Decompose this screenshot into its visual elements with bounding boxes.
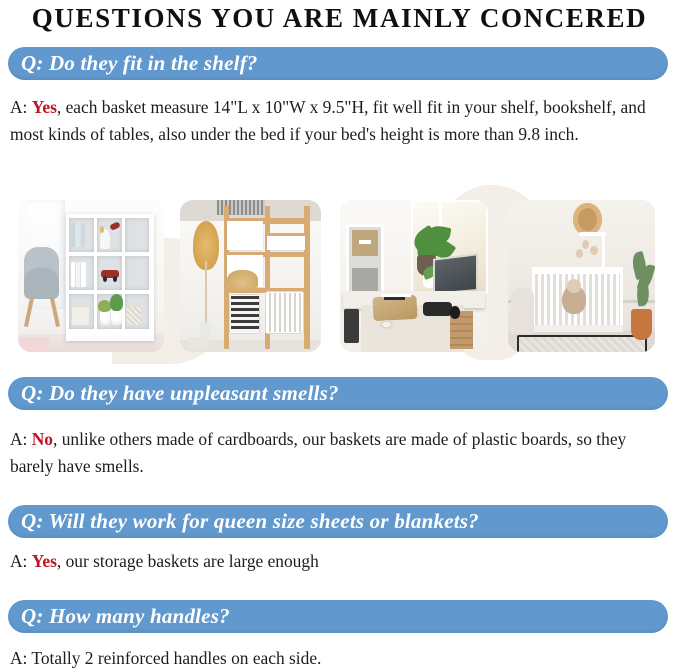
faq-answer-prefix-1: A: (10, 97, 32, 117)
faq-answer-rest-1: , each basket measure 14"L x 10"W x 9.5"… (10, 97, 646, 144)
scene-wooden-bunk-bed-with-dried-pampas-grass (180, 200, 321, 352)
scene-white-cube-bookshelf-with-grey-chair (18, 200, 164, 352)
faq-answer-3: A: Yes, our storage baskets are large en… (10, 548, 672, 575)
faq-answer-prefix-2: A: (10, 429, 32, 449)
faq-question-text-1: Q: Do they fit in the shelf? (21, 52, 258, 75)
faq-answer-rest-3: , our storage baskets are large enough (57, 551, 319, 571)
faq-question-banner-3[interactable]: Q: Will they work for queen size sheets … (8, 505, 668, 538)
faq-answer-2: A: No, unlike others made of cardboards,… (10, 426, 672, 480)
gallery-photo-1 (18, 200, 164, 352)
faq-question-banner-1[interactable]: Q: Do they fit in the shelf? (8, 47, 668, 80)
scene-home-office-desk-with-laptop-and-plant (340, 200, 488, 352)
faq-question-text-2: Q: Do they have unpleasant smells? (21, 382, 339, 405)
faq-question-text-4: Q: How many handles? (21, 605, 230, 628)
faq-answer-highlight-2: No (32, 429, 53, 449)
gallery-photo-2 (180, 200, 321, 352)
faq-question-banner-4[interactable]: Q: How many handles? (8, 600, 668, 633)
faq-question-banner-2[interactable]: Q: Do they have unpleasant smells? (8, 377, 668, 410)
faq-answer-prefix-3: A: (10, 551, 32, 571)
photo-gallery (0, 200, 679, 352)
page-title: QUESTIONS YOU ARE MAINLY CONCERED (0, 2, 679, 34)
faq-answer-rest-2: , unlike others made of cardboards, our … (10, 429, 626, 476)
faq-answer-highlight-3: Yes (32, 551, 57, 571)
faq-answer-highlight-1: Yes (32, 97, 57, 117)
faq-answer-4: A: Totally 2 reinforced handles on each … (10, 645, 672, 672)
faq-answer-1: A: Yes, each basket measure 14"L x 10"W … (10, 94, 672, 148)
gallery-photo-3 (340, 200, 488, 352)
gallery-photo-4 (508, 200, 655, 352)
scene-nursery-with-white-crib-and-mobile (508, 200, 655, 352)
faq-answer-prefix-4: A: Totally 2 reinforced handles on each … (10, 648, 321, 668)
faq-question-text-3: Q: Will they work for queen size sheets … (21, 510, 479, 533)
